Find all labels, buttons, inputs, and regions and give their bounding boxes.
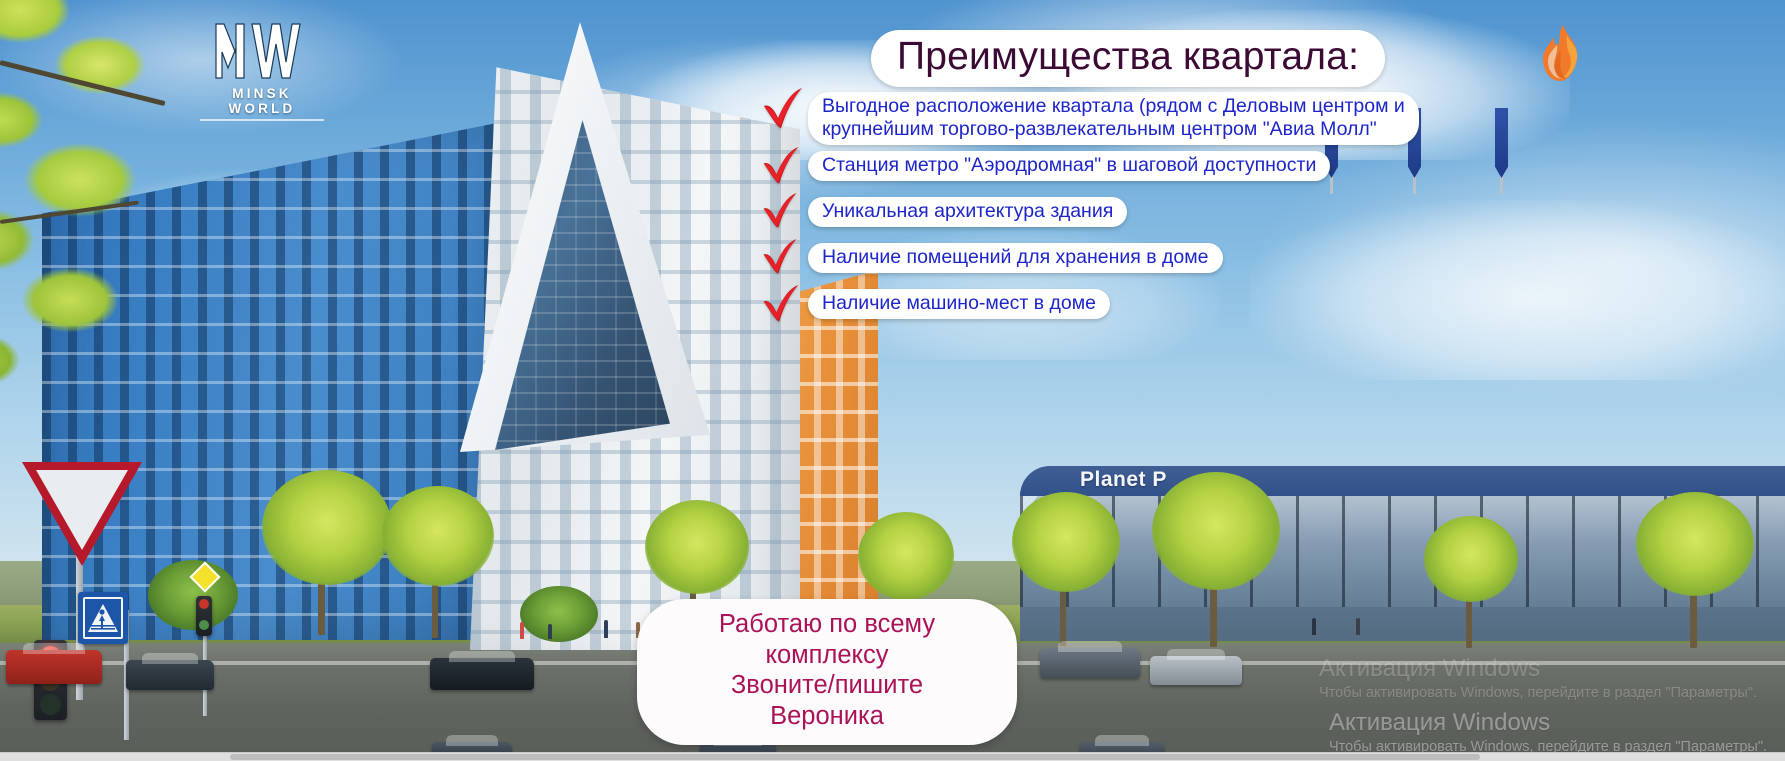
car: [126, 660, 214, 690]
advantage-text: Уникальная архитектура здания: [808, 197, 1127, 227]
shrub: [520, 586, 598, 642]
red-checkmark-icon: [760, 88, 806, 132]
tree: [1012, 492, 1120, 592]
contact-line-3: Вероника: [657, 701, 997, 732]
tree: [858, 512, 954, 600]
pedestrian: [1356, 618, 1360, 635]
tree: [1424, 516, 1518, 602]
list-item: Выгодное расположение квартала (рядом с …: [760, 92, 1460, 145]
list-item: Уникальная архитектура здания: [760, 197, 1460, 237]
traffic-light-red-lamp-small: [199, 599, 209, 609]
scrollbar-thumb[interactable]: [230, 754, 1480, 760]
tree: [645, 500, 749, 594]
tree: [382, 486, 494, 586]
mw-monogram-icon: [210, 18, 314, 84]
logo-wordmark: MINSK WORLD: [200, 86, 324, 116]
pedestrian: [548, 624, 552, 639]
advantage-text: Станция метро "Аэродромная" в шаговой до…: [808, 151, 1330, 181]
car: [1150, 656, 1242, 685]
red-checkmark-icon: [760, 147, 806, 191]
red-checkmark-icon: [760, 239, 806, 283]
pedestrian: [1312, 618, 1316, 635]
red-checkmark-icon: [760, 193, 806, 237]
pedestrian: [604, 620, 608, 638]
logo-underline: [200, 119, 324, 121]
pedestrian: [520, 622, 524, 639]
mall-roof-band: Planet P: [1020, 466, 1785, 496]
horizontal-scrollbar[interactable]: [0, 752, 1785, 761]
tree: [262, 470, 392, 585]
flame-icon: [1537, 23, 1585, 85]
advantage-text: Наличие машино-мест в доме: [808, 289, 1110, 319]
advantage-text: Наличие помещений для хранения в доме: [808, 243, 1223, 273]
traffic-light-green-lamp: [40, 694, 61, 715]
contact-card: Работаю по всему комплексу Звоните/пишит…: [637, 599, 1017, 745]
contact-line-2: Звоните/пишите: [657, 670, 997, 701]
car: [6, 650, 102, 684]
banner-flag: [1495, 108, 1508, 178]
contact-line-1: Работаю по всему комплексу: [657, 609, 997, 670]
flame-glyph: [1537, 23, 1585, 85]
tree: [1152, 472, 1280, 590]
traffic-light-green-lamp-small: [199, 620, 209, 630]
page-title: Преимущества квартала:: [897, 34, 1359, 80]
tree: [1636, 492, 1754, 596]
car: [1040, 648, 1140, 678]
list-item: Наличие помещений для хранения в доме: [760, 243, 1460, 283]
shrub: [148, 560, 238, 630]
screenshot-canvas: Planet P: [0, 0, 1785, 761]
traffic-light-secondary: [196, 596, 212, 636]
advantage-text: Выгодное расположение квартала (рядом с …: [808, 92, 1419, 145]
pedestrian-glyph: [78, 592, 128, 644]
car: [430, 658, 534, 690]
advantages-list: Выгодное расположение квартала (рядом с …: [760, 92, 1460, 335]
list-item: Станция метро "Аэродромная" в шаговой до…: [760, 151, 1460, 191]
mall-sign-text: Planet P: [1080, 468, 1167, 492]
list-item: Наличие машино-мест в доме: [760, 289, 1460, 329]
red-checkmark-icon: [760, 285, 806, 329]
yield-sign-inner: [36, 470, 128, 550]
headline-card: Преимущества квартала:: [871, 30, 1385, 87]
pedestrian-crossing-sign: [78, 592, 128, 644]
minsk-world-logo: MINSK WORLD: [200, 18, 324, 116]
